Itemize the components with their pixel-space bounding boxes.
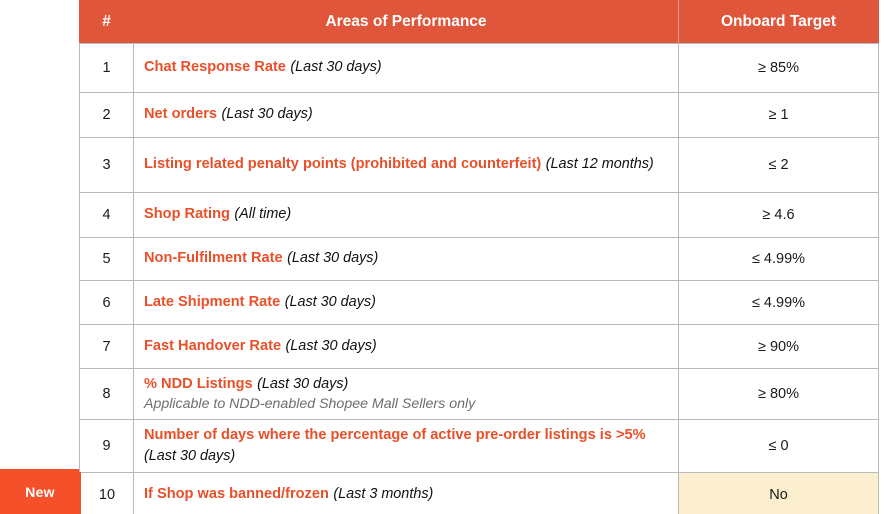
metric-period: (Last 30 days) — [257, 376, 348, 392]
metric-period: (Last 30 days) — [287, 250, 378, 266]
row-number: 7 — [80, 325, 134, 369]
row-area-cell: Late Shipment Rate (Last 30 days) — [134, 281, 679, 325]
metric-title: Net orders — [144, 106, 217, 122]
table-row: 8 % NDD Listings (Last 30 days) Applicab… — [80, 369, 879, 420]
metric-note: Applicable to NDD-enabled Shopee Mall Se… — [144, 395, 670, 413]
metric-title: % NDD Listings — [144, 376, 253, 392]
table-row: 6 Late Shipment Rate (Last 30 days) ≤ 4.… — [80, 281, 879, 325]
row-number: 3 — [80, 138, 134, 193]
table-row: 2 Net orders (Last 30 days) ≥ 1 — [80, 93, 879, 138]
table-row: 1 Chat Response Rate (Last 30 days) ≥ 85… — [80, 44, 879, 93]
new-badge: New — [0, 469, 80, 514]
metric-title: Listing related penalty points (prohibit… — [144, 156, 541, 172]
column-header-areas-of-performance: Areas of Performance — [134, 1, 679, 44]
row-number: 10 — [80, 472, 134, 514]
row-target-value: ≤ 0 — [679, 420, 879, 473]
row-target-value: ≥ 4.6 — [679, 193, 879, 238]
table-header-row: # Areas of Performance Onboard Target — [80, 1, 879, 44]
table-row: 4 Shop Rating (All time) ≥ 4.6 — [80, 193, 879, 238]
metric-title: Chat Response Rate — [144, 59, 286, 75]
row-number: 5 — [80, 238, 134, 281]
row-target-value: ≤ 2 — [679, 138, 879, 193]
metric-period: (Last 30 days) — [286, 338, 377, 354]
row-number: 8 — [80, 369, 134, 420]
row-number: 4 — [80, 193, 134, 238]
row-area-cell: Non-Fulfilment Rate (Last 30 days) — [134, 238, 679, 281]
onboard-performance-table: # Areas of Performance Onboard Target 1 … — [78, 0, 879, 514]
metric-title: Late Shipment Rate — [144, 294, 280, 310]
table-body: 1 Chat Response Rate (Last 30 days) ≥ 85… — [80, 44, 879, 514]
table-row: 7 Fast Handover Rate (Last 30 days) ≥ 90… — [80, 325, 879, 369]
row-area-cell: Net orders (Last 30 days) — [134, 93, 679, 138]
row-number: 2 — [80, 93, 134, 138]
performance-table-screenshot: New # Areas of Performance Onboard Targe… — [0, 0, 884, 514]
metric-period: (Last 30 days) — [144, 448, 235, 464]
row-area-cell: Shop Rating (All time) — [134, 193, 679, 238]
metric-period: (Last 30 days) — [285, 294, 376, 310]
row-number: 9 — [80, 420, 134, 473]
metric-period: (Last 12 months) — [546, 156, 654, 172]
metric-period: (Last 30 days) — [290, 59, 381, 75]
row-area-cell: % NDD Listings (Last 30 days) Applicable… — [134, 369, 679, 420]
row-area-cell: Listing related penalty points (prohibit… — [134, 138, 679, 193]
metric-period: (Last 3 months) — [333, 486, 433, 502]
row-target-value: ≥ 90% — [679, 325, 879, 369]
table-row: 9 Number of days where the percentage of… — [80, 420, 879, 473]
table-row: 10 If Shop was banned/frozen (Last 3 mon… — [80, 472, 879, 514]
column-header-onboard-target: Onboard Target — [679, 1, 879, 44]
metric-title: Non-Fulfilment Rate — [144, 250, 283, 266]
row-target-value: ≥ 1 — [679, 93, 879, 138]
metric-period: (Last 30 days) — [221, 106, 312, 122]
table-row: 5 Non-Fulfilment Rate (Last 30 days) ≤ 4… — [80, 238, 879, 281]
metric-title: If Shop was banned/frozen — [144, 486, 329, 502]
row-target-value: ≥ 85% — [679, 44, 879, 93]
table-header: # Areas of Performance Onboard Target — [80, 1, 879, 44]
row-area-cell: Fast Handover Rate (Last 30 days) — [134, 325, 679, 369]
row-number: 1 — [80, 44, 134, 93]
table-row: 3 Listing related penalty points (prohib… — [80, 138, 879, 193]
metric-period: (All time) — [234, 206, 291, 222]
row-area-cell: If Shop was banned/frozen (Last 3 months… — [134, 472, 679, 514]
row-target-value: ≤ 4.99% — [679, 238, 879, 281]
row-number: 6 — [80, 281, 134, 325]
column-header-number: # — [80, 1, 134, 44]
metric-title: Shop Rating — [144, 206, 230, 222]
metric-title: Fast Handover Rate — [144, 338, 281, 354]
metric-title: Number of days where the percentage of a… — [144, 427, 646, 443]
row-area-cell: Chat Response Rate (Last 30 days) — [134, 44, 679, 93]
row-target-value: ≤ 4.99% — [679, 281, 879, 325]
row-target-value: ≥ 80% — [679, 369, 879, 420]
row-area-cell: Number of days where the percentage of a… — [134, 420, 679, 473]
row-target-value: No — [679, 472, 879, 514]
